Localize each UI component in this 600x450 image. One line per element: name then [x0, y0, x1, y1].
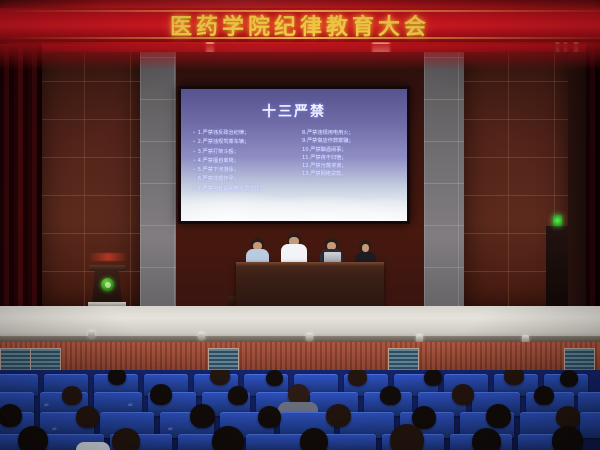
slide-bullet-item: 10.严禁酗酒闹事； [302, 146, 403, 154]
slide-body: ‣1.严禁违反政治纪律； ‣2.严禁违规驾乘车辆； ‣3.严禁打架斗殴； ‣4.… [193, 129, 403, 194]
vent-grille [564, 348, 595, 372]
audience-head [150, 384, 172, 405]
stage-foot-light [306, 333, 313, 341]
vent-grille [208, 348, 239, 372]
audience-head [486, 404, 511, 428]
school-emblem-icon [101, 278, 114, 291]
vent-grille [0, 348, 31, 372]
audience-head [424, 370, 442, 386]
wood-panel-left [38, 52, 140, 310]
seat-number-label: 46 [168, 426, 172, 431]
slide-bullet-item: ‣2.严禁违规驾乘车辆； [193, 138, 294, 147]
audience-head [18, 426, 48, 450]
slide-bullet-item: ‣4.严禁擅自离岗； [193, 157, 294, 166]
audience-head [112, 428, 140, 450]
bullet-icon: ‣ [193, 140, 196, 145]
slide-bullet-item: 12.严禁污蔑诽谤； [302, 162, 403, 170]
slide-bullet-item: ‣6.严禁非婚怀孕； [193, 175, 294, 184]
tile-panel-left [140, 52, 176, 310]
audience-head [210, 370, 230, 385]
audience-head [504, 370, 524, 385]
stage-foot-light [88, 330, 95, 338]
panel-table-top [236, 262, 384, 266]
stage-foot-light [198, 332, 205, 340]
seat-number-label: 46 [44, 402, 48, 407]
wood-panel-grid [38, 52, 140, 310]
seat-number-label: 46 [52, 426, 56, 431]
audience-seat [580, 412, 600, 438]
audience-head [76, 406, 99, 428]
event-banner: 医药学院纪律教育大会 [0, 8, 600, 42]
slide-bullet-item: ‣1.严禁违反政治纪律； [193, 129, 294, 138]
slide-bullet-item: 9.严禁做店作弊欺骗； [302, 137, 403, 145]
audience-head [380, 386, 401, 405]
audience-head [62, 386, 82, 405]
auditorium-scene: 医药学院纪律教育大会 十三严禁 ‣1.严禁违反政治纪律； ‣2.严禁违规驾乘车辆… [0, 0, 600, 450]
audience-section: 46 46 46 46 [0, 370, 600, 450]
bullet-icon: ‣ [193, 187, 196, 192]
slide-title: 十三严禁 [181, 101, 407, 121]
tile-panel-grid [424, 52, 464, 310]
exit-sign-icon [553, 215, 562, 226]
audience-shoulders [76, 442, 110, 450]
stage-foot-light [416, 334, 423, 342]
audience-head [472, 428, 501, 450]
audience-head [300, 428, 328, 450]
vent-grille [388, 348, 419, 372]
tile-panel-grid [140, 52, 176, 310]
stage-curtain-left [0, 44, 42, 320]
bullet-icon: ‣ [193, 168, 196, 173]
tile-panel-right [424, 52, 464, 310]
audience-head [556, 406, 580, 428]
audience-head [552, 426, 583, 450]
slide-bullet-item: ‣7.严禁与社会闲散人员交往。 [193, 185, 294, 194]
audience-head [534, 386, 554, 405]
slide-bullet-item: ‣5.严禁下河游泳； [193, 166, 294, 175]
bullet-icon: ‣ [193, 177, 196, 182]
bullet-icon: ‣ [193, 159, 196, 164]
slide-column-right: 8.严禁违规用电用火； 9.严禁做店作弊欺骗； 10.严禁酗酒闹事； 11.严禁… [302, 129, 403, 194]
audience-head [348, 370, 367, 386]
bullet-icon: ‣ [193, 131, 196, 136]
wall-emblem [88, 253, 128, 261]
bullet-icon: ‣ [193, 150, 196, 155]
audience-head [326, 404, 351, 427]
audience-head [228, 386, 248, 405]
projection-screen-frame: 十三严禁 ‣1.严禁违反政治纪律； ‣2.严禁违规驾乘车辆； ‣3.严禁打架斗殴… [178, 86, 410, 224]
slide-bullet-item: ‣3.严禁打架斗殴； [193, 148, 294, 157]
audience-head [190, 404, 215, 428]
slide-bullet-item: 8.严禁违规用电用火； [302, 129, 403, 137]
podium [92, 265, 122, 309]
audience-head [452, 384, 474, 405]
audience-head [390, 424, 424, 450]
slide-bullet-item: 13.严禁网络贷款。 [302, 170, 403, 178]
audience-head [288, 384, 309, 404]
audience-head [108, 370, 126, 385]
audience-seat [246, 434, 308, 450]
seat-number-label: 46 [128, 402, 132, 407]
stage-curtain-right [586, 44, 600, 320]
audience-head [212, 426, 244, 450]
audience-head [266, 370, 283, 386]
slide-column-left: ‣1.严禁违反政治纪律； ‣2.严禁违规驾乘车辆； ‣3.严禁打架斗殴； ‣4.… [193, 129, 294, 194]
audience-head [258, 406, 281, 428]
panel-table [236, 262, 384, 306]
projection-screen: 十三严禁 ‣1.严禁违反政治纪律； ‣2.严禁违规驾乘车辆； ‣3.严禁打架斗殴… [181, 89, 407, 221]
audience-head [0, 404, 22, 427]
side-cabinet [546, 226, 568, 306]
event-banner-text: 医药学院纪律教育大会 [0, 8, 600, 42]
audience-head [560, 370, 578, 387]
slide-bullet-item: 11.严禁夜不归宿； [302, 154, 403, 162]
vent-grille [30, 348, 61, 372]
